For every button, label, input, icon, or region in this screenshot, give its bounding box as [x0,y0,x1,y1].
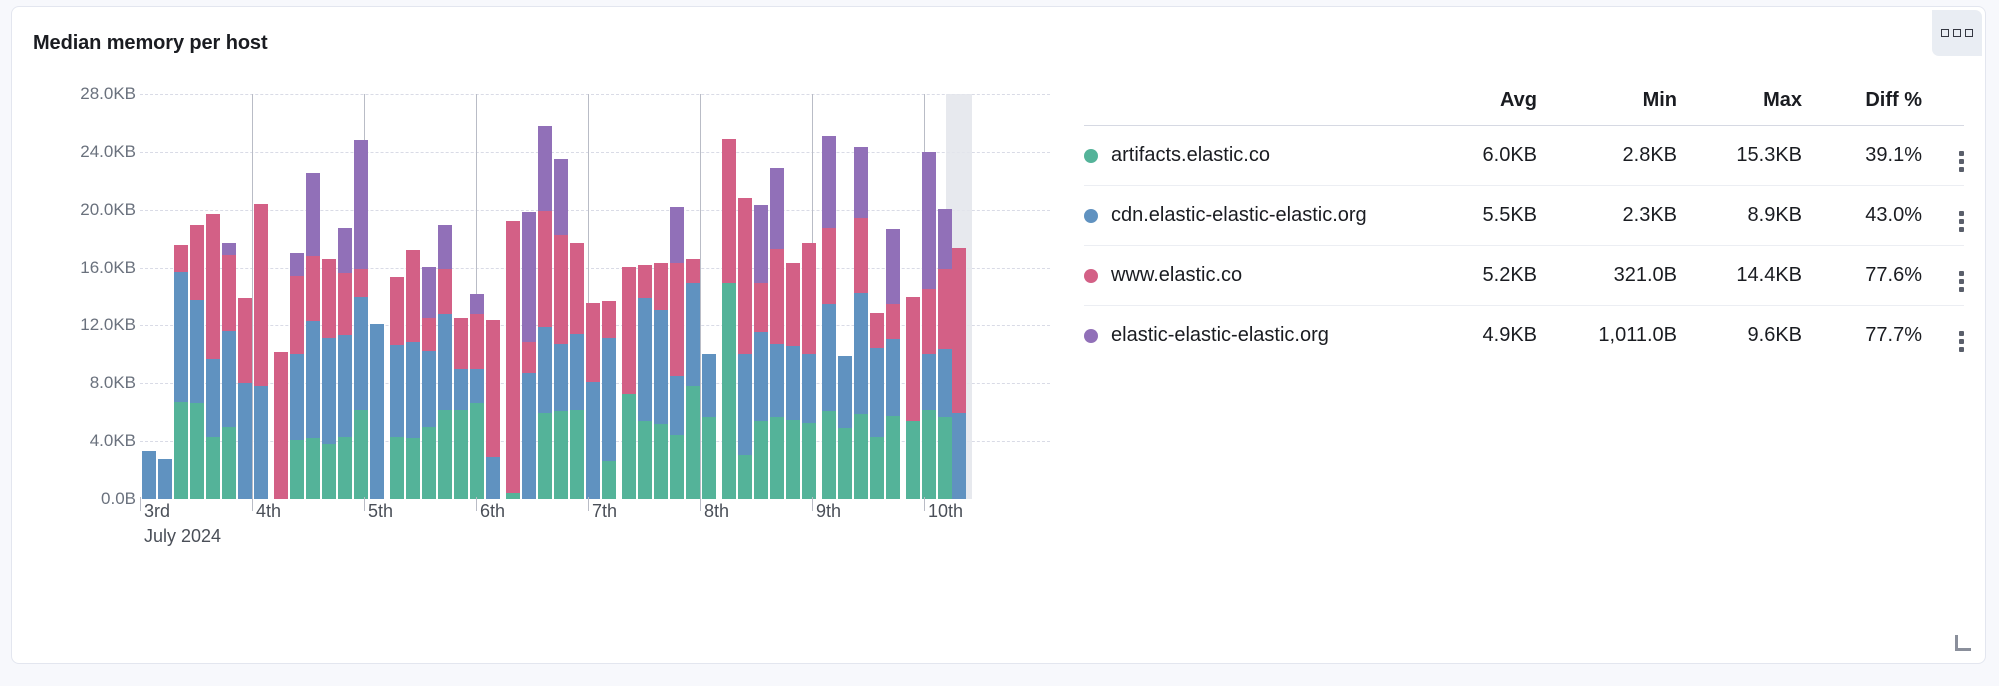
bar-column[interactable] [654,94,668,499]
legend-min-cell: 321.0B [1537,246,1677,306]
legend-min-cell: 1,011.0B [1537,306,1677,366]
bar-segment [470,369,484,403]
x-tick-mark [476,497,477,511]
bar-segment [802,354,816,423]
legend-max-cell: 9.6KB [1677,306,1802,366]
y-axis-tick-label: 8.0KB [36,373,136,393]
x-axis-tick-label: 6th [480,501,505,522]
bar-segment [952,248,966,413]
bar-segment [786,346,800,419]
kebab-menu-icon[interactable] [1941,151,1964,172]
bar-segment [190,225,204,300]
x-axis: 3rdJuly 20244th5th6th7th8th9th10th [140,501,1050,571]
legend-row-actions-cell[interactable] [1922,186,1964,246]
legend-series-cell[interactable]: www.elastic.co [1084,246,1427,306]
bar-segment [338,273,352,335]
bar-segment [254,386,268,499]
bar-segment [770,344,784,417]
bar-segment [952,413,966,499]
bar-segment [538,126,552,211]
bar-segment [622,267,636,394]
bar-column[interactable] [158,94,172,499]
bar-column[interactable] [822,94,836,499]
bar-column[interactable] [770,94,784,499]
x-tick-mark [588,497,589,511]
bar-segment [306,321,320,438]
legend-header-actions [1922,89,1964,126]
legend-diff-cell: 43.0% [1802,186,1922,246]
bar-segment [754,332,768,421]
legend-max-cell: 14.4KB [1677,246,1802,306]
bar-segment [470,314,484,369]
bar-segment [754,283,768,332]
table-row[interactable]: www.elastic.co5.2KB321.0B14.4KB77.6% [1084,246,1964,306]
bar-segment [886,229,900,304]
bar-segment [670,376,684,435]
bar-segment [822,411,836,499]
legend-min-cell: 2.3KB [1537,186,1677,246]
bar-column[interactable] [306,94,320,499]
kebab-menu-icon[interactable] [1941,271,1964,292]
bar-segment [786,420,800,499]
legend-series-label: www.elastic.co [1111,264,1242,287]
legend-avg-cell: 6.0KB [1427,126,1537,186]
bar-segment [538,327,552,413]
legend-row-actions-cell[interactable] [1922,126,1964,186]
bar-segment [406,438,420,499]
bar-column[interactable] [522,94,536,499]
bar-segment [422,318,436,350]
bar-segment [322,338,336,444]
table-row[interactable]: elastic-elastic-elastic.org4.9KB1,011.0B… [1084,306,1964,366]
legend-series-label: artifacts.elastic.co [1111,144,1270,167]
bar-segment [938,209,952,268]
bar-column[interactable] [786,94,800,499]
legend-series-cell[interactable]: elastic-elastic-elastic.org [1084,306,1427,366]
bar-segment [854,414,868,499]
bar-column[interactable] [538,94,552,499]
legend-header-max: Max [1677,89,1802,126]
legend-diff-cell: 77.6% [1802,246,1922,306]
bar-segment [274,352,288,499]
bar-column[interactable] [906,94,920,499]
bar-segment [470,294,484,314]
bar-column[interactable] [190,94,204,499]
bar-column[interactable] [670,94,684,499]
bar-segment [438,225,452,269]
bar-segment [142,451,156,499]
bar-column[interactable] [870,94,884,499]
bar-segment [190,403,204,499]
bar-column[interactable] [406,94,420,499]
legend-series-label: elastic-elastic-elastic.org [1111,324,1329,347]
table-row[interactable]: artifacts.elastic.co6.0KB2.8KB15.3KB39.1… [1084,126,1964,186]
bar-segment [886,416,900,499]
bar-segment [554,159,568,235]
x-axis-tick-label: 8th [704,501,729,522]
bar-segment [322,444,336,499]
bar-column[interactable] [886,94,900,499]
day-separator [252,94,253,499]
series-color-dot-icon [1084,329,1098,343]
bar-segment [702,354,716,418]
bar-segment [770,168,784,249]
legend-row-actions-cell[interactable] [1922,246,1964,306]
bar-column[interactable] [174,94,188,499]
bar-segment [254,204,268,386]
legend-diff-cell: 77.7% [1802,306,1922,366]
bar-segment [486,457,500,499]
bar-segment [338,335,352,437]
resize-corner-icon[interactable] [1955,635,1971,651]
y-axis-tick-label: 0.0B [36,489,136,509]
bar-column[interactable] [486,94,500,499]
bar-segment [206,359,220,437]
x-axis-tick-label: 4th [256,501,281,522]
kebab-menu-icon[interactable] [1941,331,1964,352]
bar-segment [238,298,252,383]
bar-segment [390,345,404,437]
bar-segment [922,410,936,499]
bar-segment [554,344,568,412]
bar-column[interactable] [290,94,304,499]
bar-column[interactable] [454,94,468,499]
bar-column[interactable] [422,94,436,499]
bar-segment [938,349,952,417]
bar-column[interactable] [702,94,716,499]
bar-segment [702,417,716,499]
bar-segment [906,421,920,499]
bar-segment [570,410,584,499]
x-axis-tick-label: 3rd [144,501,170,522]
three-squares-icon [1941,29,1949,37]
bar-segment [454,318,468,369]
bar-segment [522,212,536,342]
bar-segment [206,214,220,359]
legend-series-cell[interactable]: artifacts.elastic.co [1084,126,1427,186]
bar-segment [870,437,884,499]
bar-column[interactable] [754,94,768,499]
bar-column[interactable] [586,94,600,499]
bar-column[interactable] [838,94,852,499]
bar-segment [222,331,236,427]
legend-header-diff: Diff % [1802,89,1922,126]
bar-segment [586,382,600,499]
x-tick-mark [252,497,253,511]
bar-segment [506,221,520,494]
bar-segment [754,421,768,499]
x-tick-mark [812,497,813,511]
bar-segment [174,272,188,402]
bar-segment [338,437,352,499]
legend-avg-cell: 5.2KB [1427,246,1537,306]
bar-segment [922,354,936,411]
x-tick-mark [364,497,365,511]
three-squares-icon [1953,29,1961,37]
bar-segment [602,461,616,499]
bar-segment [438,314,452,410]
bar-segment [422,351,436,427]
bar-segment [554,411,568,499]
bar-column[interactable] [506,94,520,499]
y-axis-tick-label: 12.0KB [36,315,136,335]
bar-segment [174,245,188,272]
bar-segment [354,410,368,499]
bar-segment [922,289,936,354]
bar-column[interactable] [854,94,868,499]
bar-column[interactable] [602,94,616,499]
x-tick-mark [700,497,701,511]
bar-segment [722,283,736,499]
panel-header: Median memory per host [12,7,1985,61]
series-color-dot-icon [1084,269,1098,283]
bar-column[interactable] [638,94,652,499]
bar-segment [906,297,920,421]
bar-segment [938,269,952,350]
bar-column[interactable] [338,94,352,499]
bar-segment [438,410,452,499]
bar-segment [238,383,252,499]
bar-column[interactable] [254,94,268,499]
bar-segment [406,250,420,342]
kebab-menu-icon[interactable] [1941,211,1964,232]
bar-segment [290,276,304,354]
bar-segment [854,147,868,218]
bar-segment [522,342,536,373]
bar-column[interactable] [438,94,452,499]
bar-segment [738,354,752,456]
bar-segment [802,423,816,499]
bar-segment [222,243,236,254]
bar-segment [654,424,668,499]
bar-segment [686,386,700,499]
y-axis-tick-label: 28.0KB [36,84,136,104]
legend-header-row: Avg Min Max Diff % [1084,89,1964,126]
bar-segment [638,421,652,499]
series-color-dot-icon [1084,209,1098,223]
bar-segment [870,313,884,348]
bar-segment [838,356,852,428]
bar-segment [322,259,336,338]
bar-segment [602,338,616,461]
bar-segment [886,304,900,339]
bar-segment [338,228,352,273]
bar-column[interactable] [622,94,636,499]
y-axis-tick-label: 20.0KB [36,200,136,220]
x-axis-tick-label: 5th [368,501,393,522]
bar-segment [854,218,868,293]
table-row[interactable]: cdn.elastic-elastic-elastic.org5.5KB2.3K… [1084,186,1964,246]
bar-segment [686,259,700,283]
bar-column[interactable] [554,94,568,499]
y-axis-tick-label: 16.0KB [36,258,136,278]
bar-column[interactable] [274,94,288,499]
x-axis-tick-label: 7th [592,501,617,522]
bar-column[interactable] [722,94,736,499]
bar-segment [822,228,836,304]
legend-header-min: Min [1537,89,1677,126]
bar-column[interactable] [222,94,236,499]
bar-segment [222,255,236,331]
bar-segment [602,301,616,338]
bar-segment [390,277,404,345]
x-axis-tick-label: 10th [928,501,963,522]
bar-segment [802,243,816,353]
bar-column[interactable] [738,94,752,499]
bar-segment [886,339,900,415]
legend-header-series [1084,89,1427,126]
bar-segment [822,136,836,228]
legend-row-actions-cell[interactable] [1922,306,1964,366]
bar-column[interactable] [922,94,936,499]
screen-root: Median memory per host 0.0B4.0KB8.0KB12.… [0,0,1999,686]
bar-segment [522,373,536,499]
bar-segment [822,304,836,411]
chart-container: 0.0B4.0KB8.0KB12.0KB16.0KB20.0KB24.0KB28… [33,67,1073,627]
bar-segment [638,298,652,421]
bar-segment [406,342,420,438]
bar-segment [438,269,452,314]
bar-segment [354,140,368,269]
bar-segment [922,152,936,289]
bar-segment [570,334,584,410]
bar-segment [738,198,752,353]
bar-segment [354,297,368,410]
legend-series-cell[interactable]: cdn.elastic-elastic-elastic.org [1084,186,1427,246]
series-color-dot-icon [1084,149,1098,163]
bar-segment [306,438,320,499]
bar-segment [770,417,784,499]
bar-segment [486,320,500,457]
bar-segment [422,267,436,318]
bar-segment [454,369,468,410]
x-tick-mark [924,497,925,511]
bar-column[interactable] [238,94,252,499]
bar-segment [290,354,304,440]
bar-segment [506,493,520,499]
bar-segment [306,256,320,321]
bar-column[interactable] [322,94,336,499]
bar-segment [670,435,684,499]
bar-segment [354,269,368,297]
bar-column[interactable] [686,94,700,499]
bar-column[interactable] [370,94,384,499]
bar-segment [738,455,752,499]
series-legend-table: Avg Min Max Diff % artifacts.elastic.co6… [1084,89,1964,365]
y-axis-tick-label: 24.0KB [36,142,136,162]
legend-diff-cell: 39.1% [1802,126,1922,186]
bar-segment [686,283,700,386]
x-axis-subtitle: July 2024 [144,526,221,547]
three-squares-icon [1965,29,1973,37]
bar-segment [222,427,236,499]
bar-segment [622,394,636,499]
legend-header-avg: Avg [1427,89,1537,126]
plot-area[interactable] [140,94,1050,499]
legend-avg-cell: 4.9KB [1427,306,1537,366]
bar-segment [770,249,784,344]
bar-column[interactable] [570,94,584,499]
bar-segment [870,348,884,437]
y-axis: 0.0B4.0KB8.0KB12.0KB16.0KB20.0KB24.0KB28… [33,94,136,499]
bar-segment [854,293,868,414]
legend-series-label: cdn.elastic-elastic-elastic.org [1111,204,1367,227]
bar-column[interactable] [142,94,156,499]
y-axis-tick-label: 4.0KB [36,431,136,451]
bar-segment [638,265,652,299]
bar-segment [554,235,568,344]
bar-column[interactable] [802,94,816,499]
bar-segment [570,243,584,333]
x-tick-mark [140,497,141,511]
bar-segment [190,300,204,403]
bar-column[interactable] [206,94,220,499]
bar-segment [422,427,436,499]
bar-segment [290,440,304,499]
legend-max-cell: 15.3KB [1677,126,1802,186]
bar-segment [538,211,552,327]
bar-segment [838,428,852,499]
bar-segment [654,263,668,310]
bar-segment [306,173,320,256]
x-axis-tick-label: 9th [816,501,841,522]
bar-segment [538,413,552,499]
bar-segment [158,459,172,499]
bar-segment [206,437,220,499]
bar-segment [370,324,384,499]
legend-max-cell: 8.9KB [1677,186,1802,246]
legend-avg-cell: 5.5KB [1427,186,1537,246]
bar-column[interactable] [390,94,404,499]
bar-segment [670,207,684,264]
bar-segment [290,253,304,276]
bar-segment [754,205,768,283]
bar-column[interactable] [952,94,966,499]
bar-segment [586,303,600,382]
bar-segment [670,263,684,376]
panel-context-menu-button[interactable] [1932,10,1982,56]
bar-segment [722,139,736,283]
bar-column[interactable] [470,94,484,499]
bar-segment [786,263,800,346]
page-title: Median memory per host [33,32,268,55]
bar-segment [938,417,952,499]
day-separator [700,94,701,499]
bar-segment [174,402,188,499]
bar-segment [454,410,468,499]
bar-segment [654,310,668,424]
legend-min-cell: 2.8KB [1537,126,1677,186]
bar-segment [470,403,484,499]
bar-segment [390,437,404,499]
bar-column[interactable] [354,94,368,499]
bar-column[interactable] [938,94,952,499]
dashboard-panel: Median memory per host 0.0B4.0KB8.0KB12.… [11,6,1986,664]
